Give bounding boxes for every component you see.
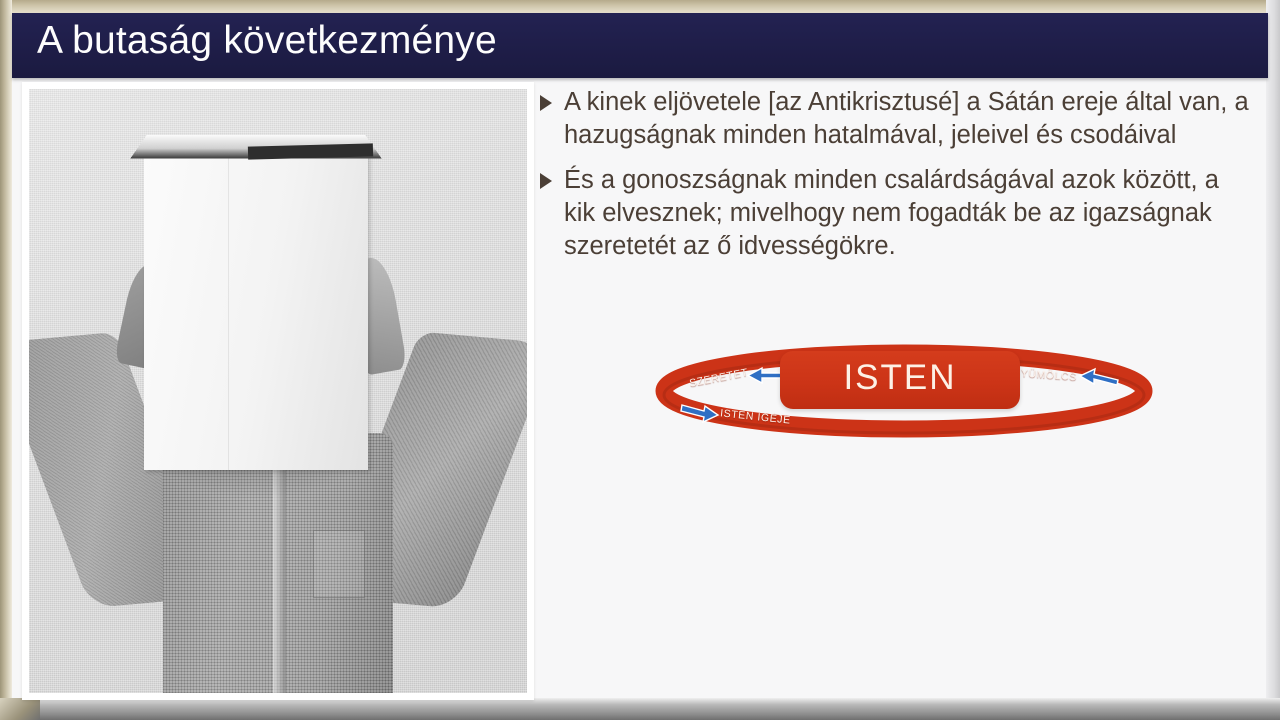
bullet-text: A kinek eljövetele [az Antikrisztusé] a … [564, 88, 1249, 149]
photo-box-seam [228, 155, 229, 469]
isten-cycle-diagram: SZERETET ISTEN IGÉJE GYÜMÖLCS ISTEN [648, 333, 1160, 453]
photo-shirt-pocket [313, 530, 365, 598]
page-title: A butaság következménye [37, 19, 497, 63]
body-text-column: A kinek eljövetele [az Antikrisztusé] a … [538, 86, 1250, 275]
photo-cardboard-box [144, 155, 368, 469]
photo-man-with-box-on-head [29, 89, 527, 693]
slide-edge-bottom [0, 698, 1280, 720]
triangle-bullet-icon [540, 95, 552, 111]
slide: A butaság következménye A kinek eljövete… [0, 0, 1280, 720]
slide-edge-top [0, 0, 1280, 13]
bullet-item: A kinek eljövetele [az Antikrisztusé] a … [538, 86, 1250, 152]
isten-center-box: ISTEN [780, 351, 1020, 409]
arrow-left-szeretet-icon [748, 368, 784, 383]
slide-edge-right [1266, 0, 1280, 720]
isten-center-label: ISTEN [780, 358, 1020, 398]
bullet-text: És a gonoszságnak minden csalárdságával … [564, 166, 1219, 260]
slide-edge-bottom-left [0, 698, 40, 720]
bullet-item: És a gonoszságnak minden csalárdságával … [538, 164, 1250, 263]
slide-edge-left [0, 0, 12, 720]
photo-frame [22, 82, 534, 700]
triangle-bullet-icon [540, 173, 552, 189]
title-banner: A butaság következménye [12, 13, 1268, 78]
